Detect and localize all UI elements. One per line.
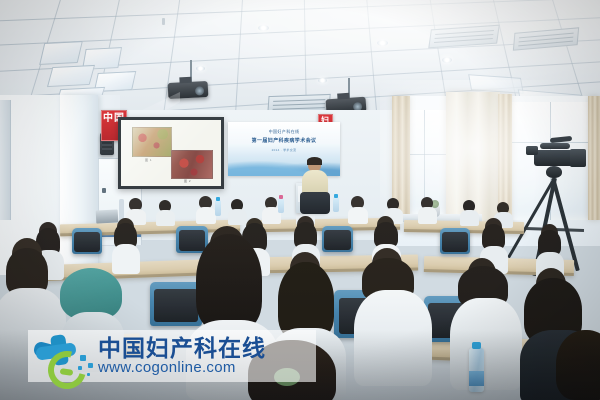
banner-line-2: 第一届妇产科疾病学术会议: [252, 137, 317, 144]
camera-lens: [570, 149, 586, 167]
watermark-url-text: www.cogonline.com: [98, 360, 266, 377]
water-bottle: [469, 348, 484, 392]
door-frame: [0, 100, 11, 220]
bottle-cap: [472, 342, 481, 349]
chair: [440, 228, 470, 254]
bottle-label: [469, 371, 484, 386]
banner-line-3: 2014 · 学术交流: [272, 148, 297, 152]
laptop: [96, 209, 119, 223]
watermark-chinese-text: 中国妇产科在线: [98, 336, 266, 360]
chair: [150, 282, 202, 326]
banner-line-1: 中国妇产科在线: [269, 129, 300, 135]
water-bottle: [215, 200, 221, 216]
logo-square: [87, 373, 90, 376]
logo-square: [88, 363, 93, 368]
stage-banner: 中国妇产科在线 第一届妇产科疾病学术会议 2014 · 学术交流: [228, 122, 340, 176]
water-bottle: [278, 198, 284, 213]
camera-viewfinder: [526, 146, 538, 155]
ceiling-projector-left: [168, 81, 209, 99]
camera-handle: [540, 143, 570, 149]
logo-square: [78, 366, 82, 370]
chair: [322, 226, 353, 252]
water-bottle: [333, 197, 339, 212]
cogonline-logo: [30, 333, 96, 379]
projection-screen: 图 1 图 2: [118, 117, 224, 189]
chair: [72, 228, 102, 254]
tripod-head: [546, 166, 562, 178]
presenter-lower: [300, 192, 330, 214]
camera-body: [534, 150, 574, 166]
presenter-hair: [307, 157, 322, 165]
cogonline-watermark: 中国妇产科在线 www.cogonline.com: [28, 330, 316, 382]
photo-canvas: 中国 妇产 图 1 图 2 中国妇产科在线 第一届妇产科疾病学术会议 2014 …: [0, 0, 600, 400]
logo-square: [80, 355, 86, 361]
